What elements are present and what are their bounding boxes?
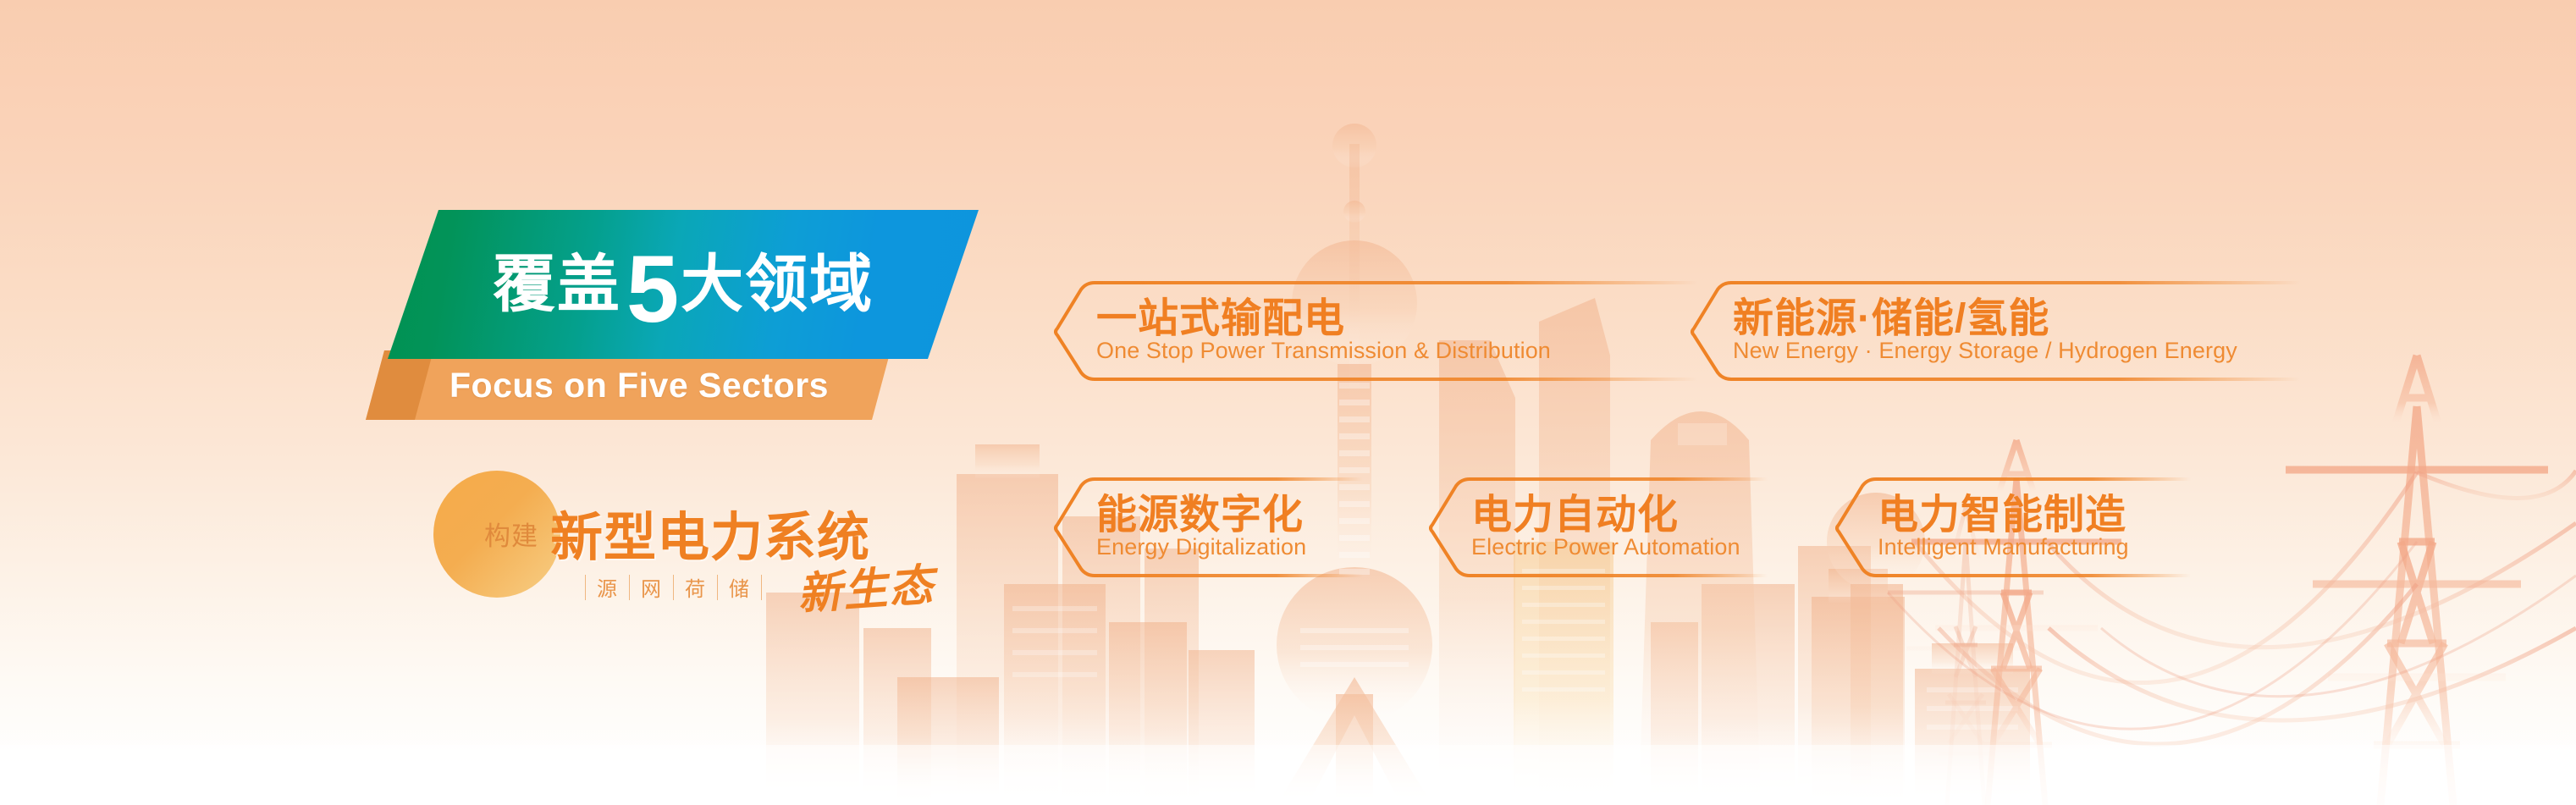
pillar-separator [717,575,718,600]
banner-subtitle: Focus on Five Sectors [366,350,891,420]
sector-tag-title-cn: 一站式输配电 [1096,284,1345,344]
sector-tag-title-en: Electric Power Automation [1471,534,1740,560]
transmission-pylon-right [2286,356,2548,805]
focus-banner: 覆盖 5 大领域 Focus on Five Sectors [366,210,979,389]
pillar-source: 源 [597,572,618,602]
emblem-eco-text: 新生态 [795,549,936,622]
banner-headline: 覆盖 5 大领域 [388,210,979,359]
sector-tag-energy-digitalization[interactable]: 能源数字化 Energy Digitalization [1054,476,1363,579]
emblem-pillars: 源 网 荷 储 [574,572,773,602]
pillar-separator [629,575,630,600]
sector-tag-title-cn: 电力自动化 [1471,481,1679,540]
pillar-separator [761,575,762,600]
pillar-storage: 储 [729,572,750,602]
sector-tag-title-cn: 能源数字化 [1096,481,1304,540]
sector-tag-new-energy-storage-hydrogen[interactable]: 新能源·储能/氢能 New Energy · Energy Storage / … [1691,279,2300,383]
sector-tag-title-en: Intelligent Manufacturing [1878,534,2129,560]
new-power-system-emblem: 构建 新型电力系统 源 网 荷 储 新生态 [433,471,907,640]
pillar-grid: 网 [641,572,662,602]
sector-tag-title-en: New Energy · Energy Storage / Hydrogen E… [1733,338,2237,364]
banner-headline-prefix: 覆盖 [493,253,621,316]
sector-tag-electric-power-automation[interactable]: 电力自动化 Electric Power Automation [1429,476,1768,579]
banner-headline-suffix: 大领域 [681,253,874,316]
sector-tag-intelligent-manufacturing[interactable]: 电力智能制造 Intelligent Manufacturing [1835,476,2191,579]
banner-canvas: 覆盖 5 大领域 Focus on Five Sectors 构建 新型电力系统… [0,0,2576,805]
pillar-separator [585,575,586,600]
oriental-pearl-tower [1277,124,1432,805]
sector-tag-title-en: Energy Digitalization [1096,534,1306,560]
emblem-prefix: 构建 [484,515,538,553]
sector-tag-title-cn: 电力智能制造 [1878,481,2126,540]
sector-tag-one-stop-power-transmission-distribution[interactable]: 一站式输配电 One Stop Power Transmission & Dis… [1054,279,1697,383]
pillar-separator [673,575,674,600]
banner-headline-number: 5 [626,242,679,337]
pillar-load: 荷 [685,572,706,602]
sector-tag-title-en: One Stop Power Transmission & Distributi… [1096,338,1551,364]
sector-tag-title-cn: 新能源·储能/氢能 [1733,284,2049,344]
